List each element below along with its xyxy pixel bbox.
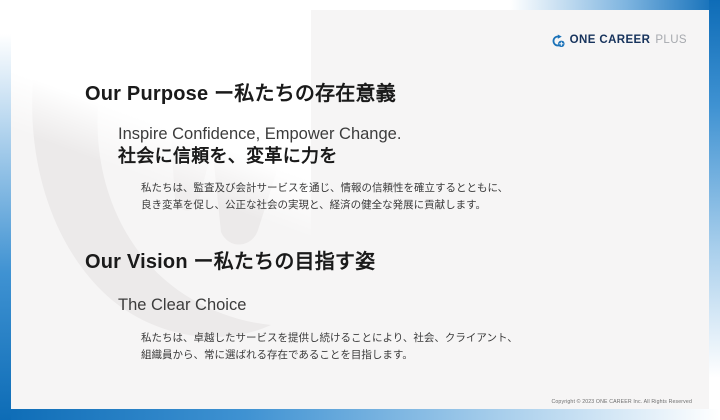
slide-canvas: ONE CAREER PLUS Our Purpose ー私たちの存在意義 In… [11, 10, 709, 409]
accent-stripe-left [0, 34, 11, 420]
vision-body-line: 組織員から、常に選ばれる存在であることを目指します。 [141, 347, 518, 364]
logo-text-primary: ONE CAREER [570, 35, 651, 47]
vision-tagline-block: The Clear Choice [118, 294, 518, 316]
vision-body: 私たちは、卓越したサービスを提供し続けることにより、社会、クライアント、 組織員… [141, 330, 518, 364]
purpose-tagline-ja: 社会に信頼を、変革に力を [118, 145, 508, 168]
slide: ONE CAREER PLUS Our Purpose ー私たちの存在意義 In… [0, 0, 720, 420]
vision-heading: Our Vision ー私たちの目指す姿 [85, 250, 518, 275]
copyright-notice: Copyright © 2023 ONE CAREER Inc. All Rig… [552, 399, 693, 405]
purpose-body-line: 良き変革を促し、公正な社会の実現と、経済の健全な発展に貢献します。 [141, 197, 508, 214]
vision-tagline-en: The Clear Choice [118, 294, 518, 316]
brand-logo: ONE CAREER PLUS [551, 34, 687, 48]
logo-text-secondary: PLUS [655, 35, 687, 47]
vision-body-line: 私たちは、卓越したサービスを提供し続けることにより、社会、クライアント、 [141, 330, 518, 347]
section-purpose: Our Purpose ー私たちの存在意義 Inspire Confidence… [85, 82, 508, 214]
accent-stripe-bottom [0, 409, 720, 420]
purpose-tagline-block: Inspire Confidence, Empower Change. 社会に信… [118, 123, 508, 169]
circular-arrow-plus-icon [551, 34, 565, 48]
purpose-tagline-en: Inspire Confidence, Empower Change. [118, 123, 508, 145]
accent-stripe-top [510, 0, 720, 10]
purpose-body: 私たちは、監査及び会計サービスを通じ、情報の信頼性を確立するとともに、 良き変革… [141, 180, 508, 214]
purpose-body-line: 私たちは、監査及び会計サービスを通じ、情報の信頼性を確立するとともに、 [141, 180, 508, 197]
accent-stripe-right [709, 0, 720, 378]
purpose-heading: Our Purpose ー私たちの存在意義 [85, 82, 508, 107]
section-vision: Our Vision ー私たちの目指す姿 The Clear Choice 私た… [85, 250, 518, 364]
